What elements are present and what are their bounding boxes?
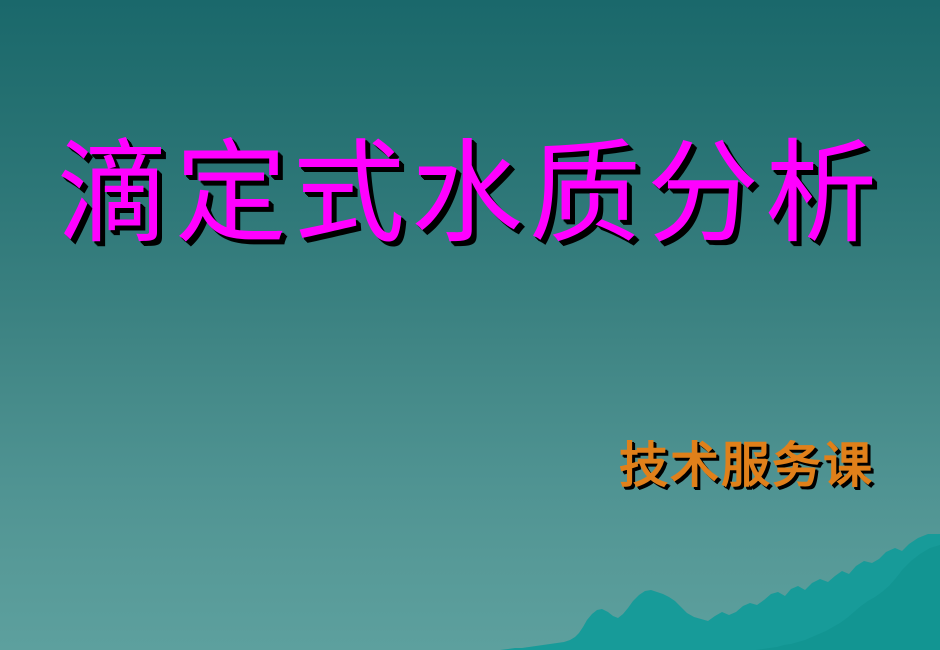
slide-title-text: 滴定式水质分析 bbox=[57, 138, 883, 250]
mountain-ridge-icon bbox=[0, 0, 940, 650]
slide-title: 滴定式水质分析 bbox=[0, 138, 940, 250]
slide-subtitle: 技术服务课 bbox=[619, 441, 874, 490]
slide-subtitle-text: 技术服务课 bbox=[619, 441, 874, 490]
presentation-slide: 滴定式水质分析 技术服务课 bbox=[0, 0, 940, 650]
